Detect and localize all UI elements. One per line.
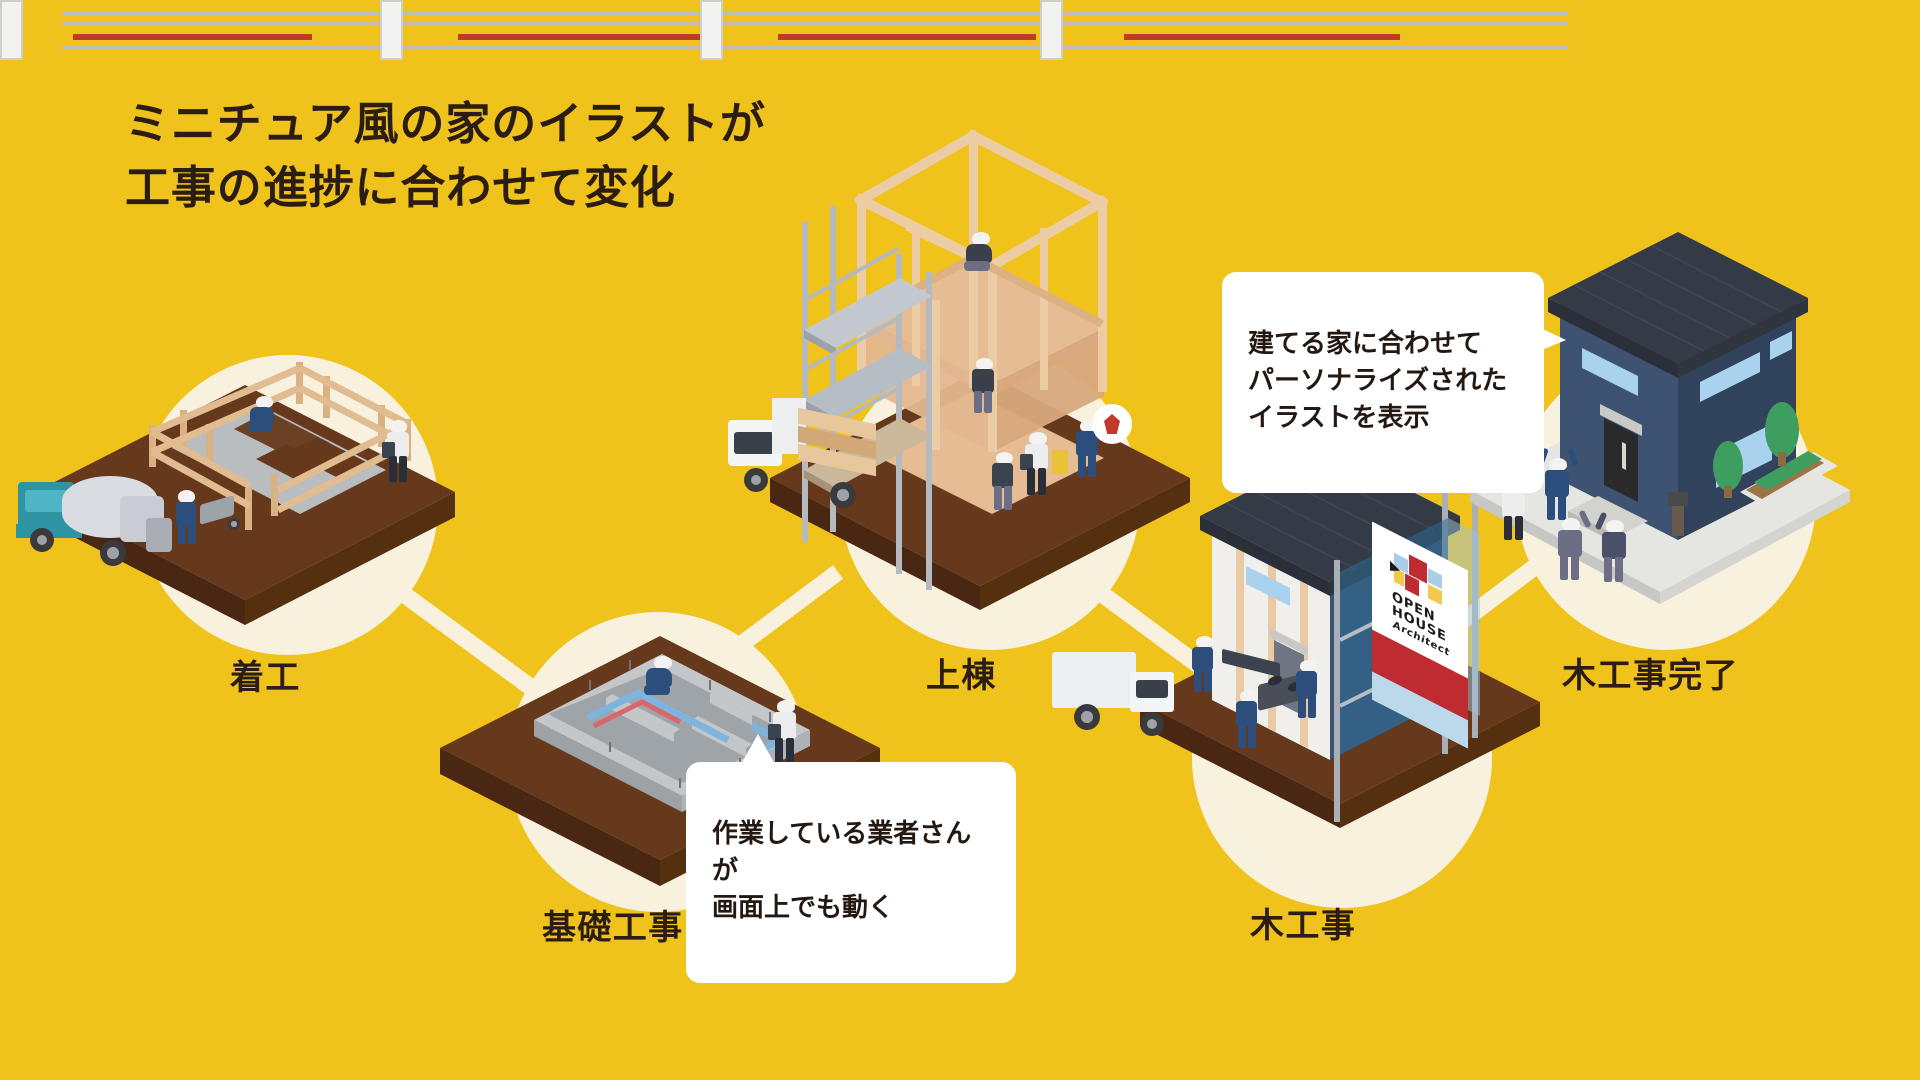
callout-text: 作業している業者さんが 画面上でも動く [712, 819, 971, 923]
callout-personalized-illustration: 建てる家に合わせて パーソナライズされた イラストを表示 [1222, 272, 1544, 493]
callout-text: 建てる家に合わせて パーソナライズされた イラストを表示 [1248, 329, 1507, 433]
worker-on-frame [962, 232, 1006, 278]
worker-kneeling [246, 396, 288, 440]
worker-celebrating-c [1552, 510, 1594, 584]
callout-tail-icon [736, 734, 778, 770]
worker-carry-a [1188, 636, 1226, 696]
stage-label-jouto: 上棟 [926, 648, 997, 697]
infographic-canvas: ミニチュア風の家のイラストが 工事の進捗に合わせて変化 [0, 0, 1920, 1080]
worker-on-scaffold [968, 358, 1008, 416]
wheelbarrow-wheel [228, 518, 240, 530]
worker-carry-c [1292, 660, 1330, 722]
worker-celebrating-d [1596, 512, 1638, 586]
stage-label-chakkou: 着工 [230, 650, 301, 699]
stage-label-kiso: 基礎工事 [542, 900, 683, 949]
worker-kneeling [642, 656, 686, 704]
callout-tail-icon [1532, 324, 1572, 362]
stage-label-kanryou: 木工事完了 [1562, 648, 1739, 697]
stage-label-mokkouji: 木工事 [1250, 898, 1356, 947]
callout-animated-workers: 作業している業者さんが 画面上でも動く [686, 762, 1016, 983]
